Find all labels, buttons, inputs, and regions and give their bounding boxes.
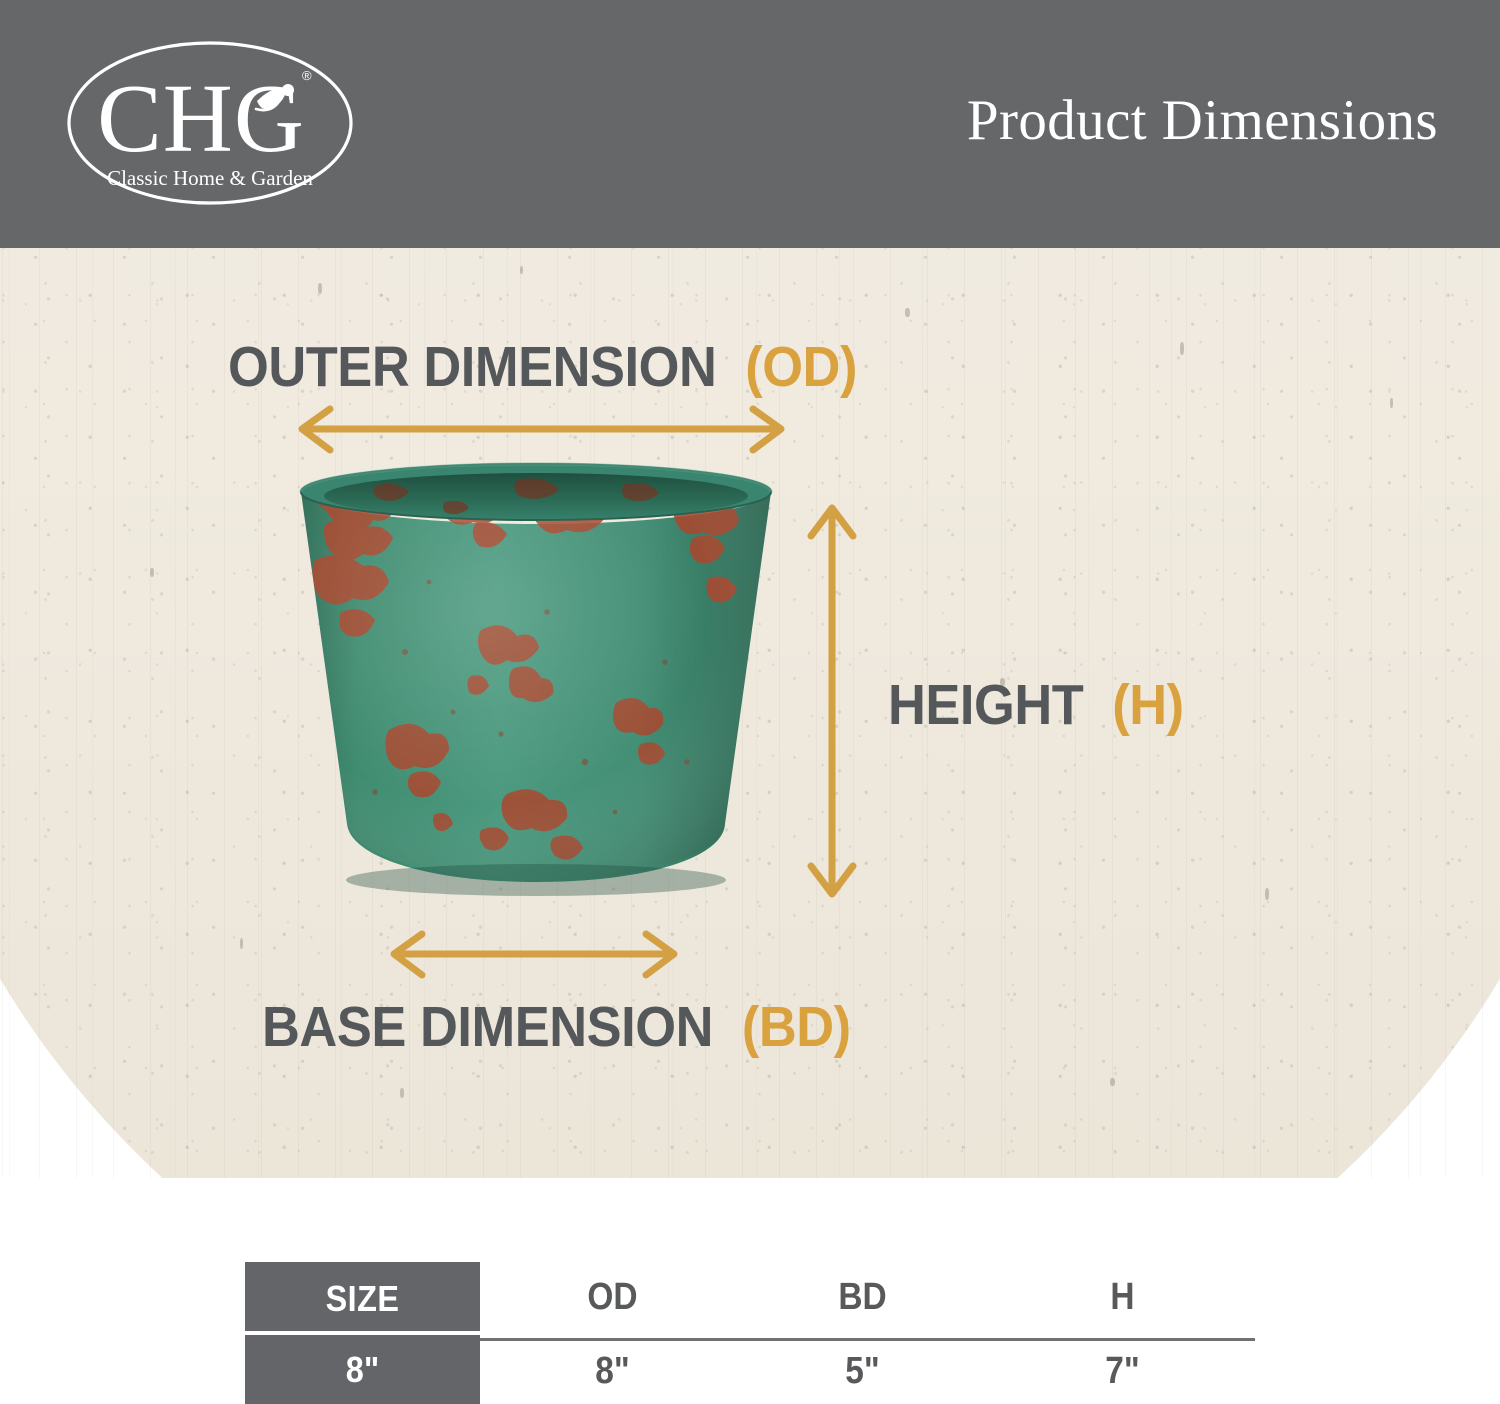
outer-dimension-arrow [292, 404, 792, 456]
berry-icon [282, 84, 294, 96]
bd-value-cell: 5" [786, 1350, 940, 1393]
outer-dimension-text: OUTER DIMENSION [228, 335, 716, 399]
size-header-cell: SIZE [245, 1262, 480, 1331]
size-value-text: 8" [257, 1349, 469, 1391]
product-dimensions-infographic: CHG ® Classic Home & Garden Product Dime… [0, 0, 1500, 1404]
bd-header-cell: BD [786, 1276, 940, 1319]
brand-logo: CHG ® Classic Home & Garden [60, 33, 360, 213]
registered-trademark-symbol: ® [302, 68, 312, 83]
base-dimension-arrow [384, 930, 684, 980]
header-bar: CHG ® Classic Home & Garden Product Dime… [0, 0, 1500, 248]
base-dimension-label: BASE DIMENSION (BD) [262, 994, 851, 1060]
size-column: SIZE 8" [245, 1262, 480, 1404]
height-arrow [800, 500, 864, 902]
od-header-cell: OD [536, 1276, 690, 1319]
size-value-cell: 8" [245, 1335, 480, 1404]
h-header-cell: H [1046, 1276, 1200, 1319]
h-value-cell: 7" [1046, 1350, 1200, 1393]
height-text: HEIGHT [888, 673, 1083, 737]
pot-patina-texture [285, 462, 805, 922]
table-header-rule [480, 1338, 1255, 1341]
outer-dimension-code: (OD) [745, 335, 857, 399]
outer-dimension-label: OUTER DIMENSION (OD) [228, 334, 857, 400]
od-value-cell: 8" [536, 1350, 690, 1393]
base-dimension-text: BASE DIMENSION [262, 995, 713, 1059]
height-label: HEIGHT (H) [888, 672, 1184, 738]
base-dimension-code: (BD) [742, 995, 851, 1059]
pot-base-shadow [346, 864, 726, 896]
logo-tagline-text: Classic Home & Garden [107, 166, 313, 190]
height-code: (H) [1112, 673, 1183, 737]
size-header-text: SIZE [257, 1278, 469, 1320]
page-title: Product Dimensions [967, 88, 1438, 153]
dimensions-table: SIZE 8" OD BD H 8" 5" 7" [245, 1262, 1255, 1404]
logo-mark-text: CHG [97, 65, 305, 172]
planter-pot-image [285, 462, 805, 922]
